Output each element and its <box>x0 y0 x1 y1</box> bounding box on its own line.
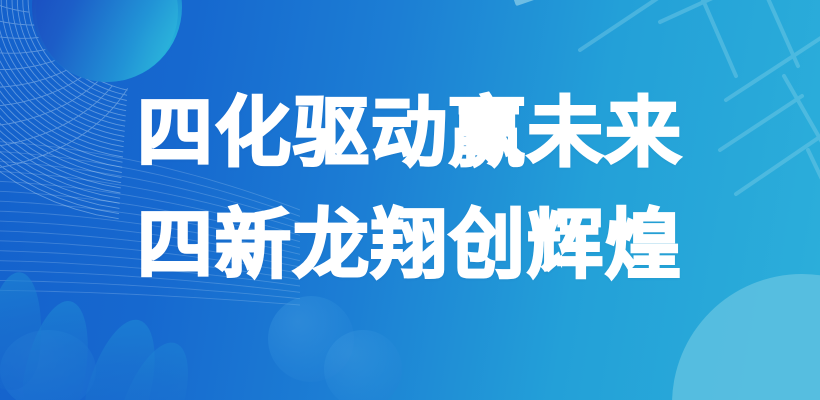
headline-line-2: 四新龙翔创辉煌 <box>0 190 820 302</box>
promo-banner: 四化驱动赢未来 四新龙翔创辉煌 <box>0 0 820 400</box>
headline-block: 四化驱动赢未来 四新龙翔创辉煌 <box>0 78 820 302</box>
headline-line-1: 四化驱动赢未来 <box>0 78 820 190</box>
bubble-shape <box>324 330 402 400</box>
